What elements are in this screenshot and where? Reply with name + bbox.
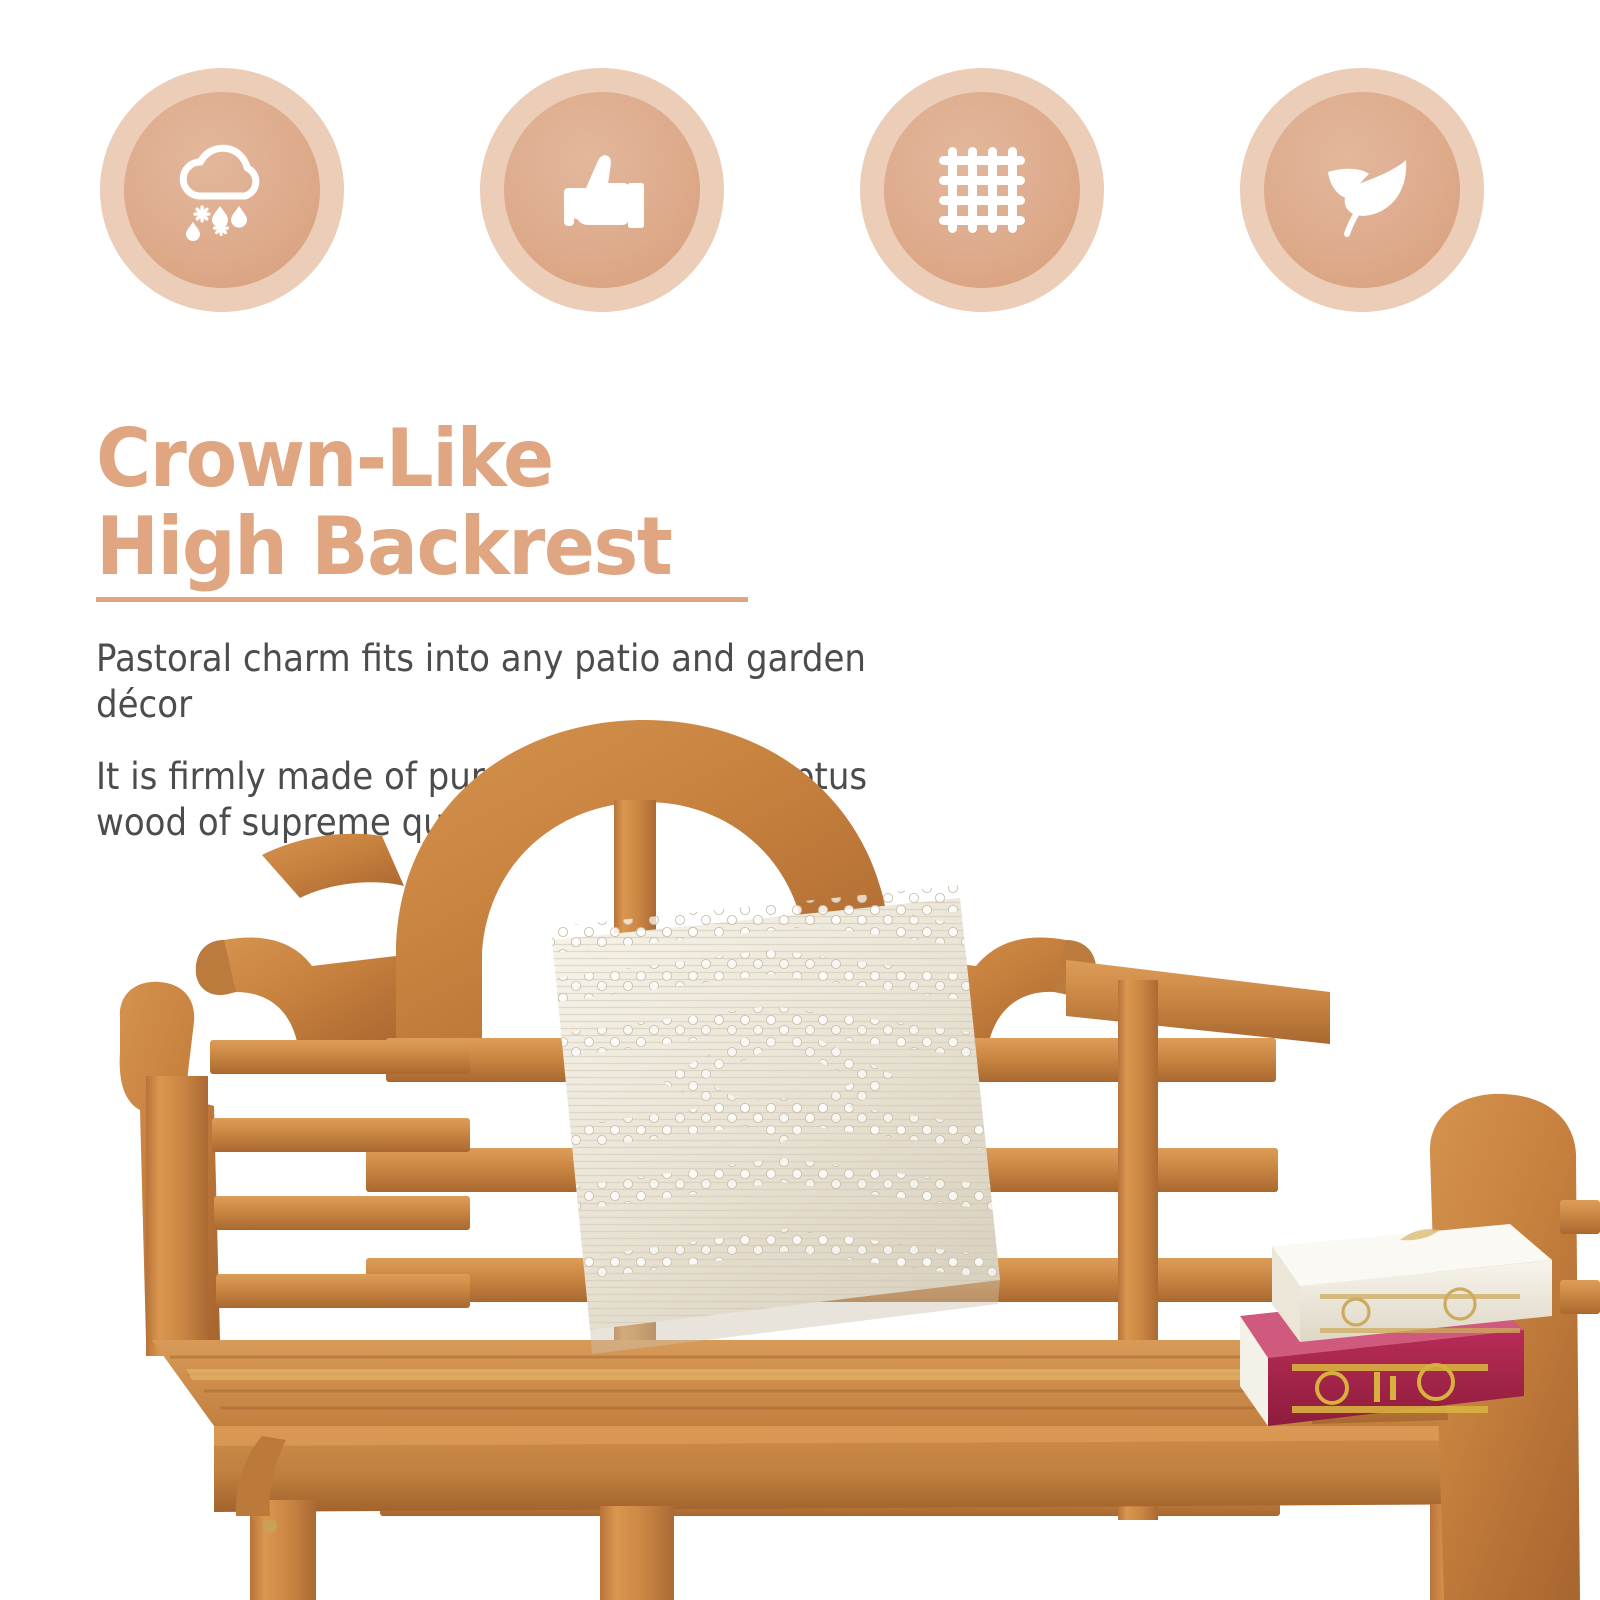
left-arm-slat-1: [210, 1040, 470, 1074]
book-stack: [1240, 1224, 1552, 1426]
thumbs-up-icon: [542, 130, 662, 250]
left-arm-slat-2: [212, 1118, 470, 1152]
feature-icon-eco-friendly: [1240, 68, 1484, 312]
feature-icon-weather-resistant: [100, 68, 344, 312]
right-arm-slat-2: [1560, 1280, 1600, 1314]
icon-disc: [124, 92, 320, 288]
headline-block: Crown-Like High Backrest: [96, 415, 916, 591]
leaf-icon: [1302, 130, 1422, 250]
left-arm-upright: [146, 1076, 208, 1356]
icon-disc: [884, 92, 1080, 288]
grid-lattice-icon: [922, 130, 1042, 250]
feature-icon-lattice-structure: [860, 68, 1104, 312]
product-feature-card: Crown-Like High Backrest Pastoral charm …: [0, 0, 1600, 1600]
headline-line-2: High Backrest: [96, 503, 867, 591]
headline-divider: [96, 597, 748, 602]
crown-right-rail: [1066, 960, 1330, 1044]
icon-disc: [504, 92, 700, 288]
product-photo: [0, 640, 1600, 1600]
front-mid-leg: [600, 1506, 674, 1600]
throw-pillow: [530, 890, 1030, 1354]
left-arm-slat-3: [214, 1196, 470, 1230]
feature-icon-row: [0, 68, 1600, 316]
bench-illustration: [0, 640, 1600, 1600]
leg-screw: [263, 1519, 277, 1533]
icon-disc: [1264, 92, 1460, 288]
cloud-rain-snow-icon: [162, 130, 282, 250]
left-arm-slat-4: [216, 1274, 470, 1308]
cushion-texture: [530, 890, 1030, 1350]
right-arm-slat-1: [1560, 1200, 1600, 1234]
feature-icon-quality-approved: [480, 68, 724, 312]
headline-line-1: Crown-Like: [96, 415, 867, 503]
